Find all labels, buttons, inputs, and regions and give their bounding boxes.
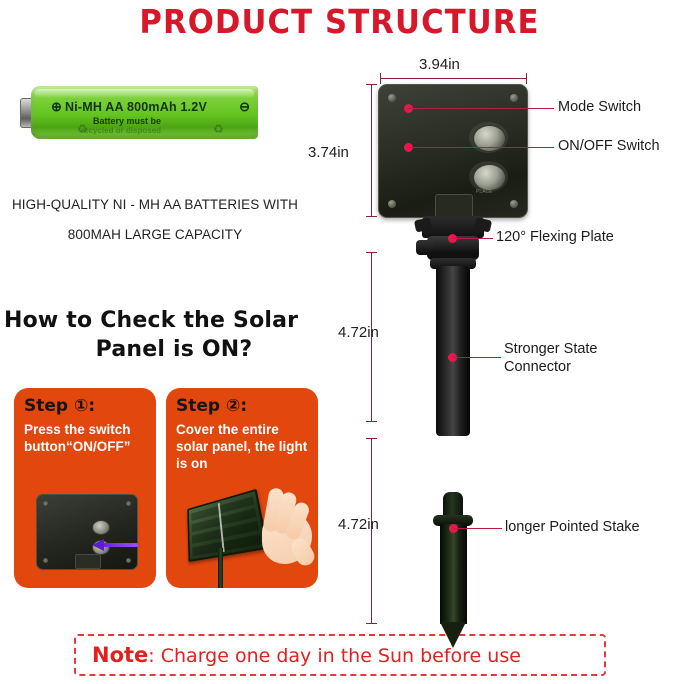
- stake-point: [440, 622, 466, 648]
- dim-label-panel-width: 3.94in: [419, 56, 460, 73]
- dim-tick: [380, 73, 381, 84]
- note-body: : Charge one day in the Sun before use: [148, 645, 521, 667]
- pointer-arrow-icon: [92, 541, 138, 549]
- infographic-root: PRODUCT STRUCTURE ⊕ Ni-MH AA 800mAh 1.2V…: [0, 0, 679, 684]
- battery-caption-line2: 800MAH LARGE CAPACITY: [0, 220, 310, 250]
- screw-icon: [126, 501, 131, 506]
- howto-heading-line2: Panel is ON?: [4, 335, 334, 364]
- screw-icon: [510, 94, 518, 102]
- dim-tick: [366, 438, 377, 439]
- callout-label-flexing-plate: 120° Flexing Plate: [496, 229, 614, 246]
- step-card-2[interactable]: Step ②: Cover the entire solar panel, th…: [166, 388, 318, 588]
- no-trash-icon: ♻: [213, 122, 224, 136]
- dim-line-panel-width: [380, 78, 526, 79]
- arrow-head: [92, 539, 104, 551]
- solar-panel-pole: [218, 548, 223, 588]
- adjust-knob[interactable]: [416, 240, 433, 255]
- bracket-wing-right: [474, 217, 492, 232]
- callout-line-mode-switch: [409, 108, 554, 109]
- dim-tick: [366, 623, 377, 624]
- stake-body: [440, 524, 467, 624]
- screw-icon: [43, 558, 48, 563]
- note-prefix: Note: [92, 643, 148, 667]
- howto-heading-line1: How to Check the Solar: [4, 308, 298, 333]
- callout-label-onoff-switch: ON/OFF Switch: [558, 138, 660, 155]
- pole-tube: [436, 266, 470, 436]
- panel-mount-tab: [435, 194, 473, 218]
- screw-icon: [510, 200, 518, 208]
- dim-line-panel-height: [371, 84, 372, 217]
- recycle-icon: ♻: [77, 122, 88, 136]
- screw-icon: [126, 558, 131, 563]
- dim-tick: [526, 73, 527, 84]
- page-title: PRODUCT STRUCTURE: [24, 2, 655, 41]
- callout-line-flexing-plate: [453, 238, 493, 239]
- panel-back-graphic: [36, 494, 138, 570]
- callout-label-state-connector: Stronger State Connector: [504, 340, 598, 376]
- dim-label-stake-length: 4.72in: [338, 516, 379, 533]
- dim-tick: [366, 84, 377, 85]
- step-1-body: Press the switch button“ON/OFF”: [24, 421, 150, 455]
- callout-line-onoff-switch: [409, 147, 554, 148]
- callout-line-pointed-stake: [454, 528, 502, 529]
- battery-recycle-line2: recycled or disposed: [81, 126, 161, 135]
- battery-minus-icon: ⊖: [239, 99, 250, 115]
- dim-tick: [366, 421, 377, 422]
- step-2-body: Cover the entire solar panel, the light …: [176, 421, 312, 472]
- product-diagram: 3.94in 3.74in 4.72in 4.72in PLACE: [300, 56, 679, 636]
- battery-spec-label: Ni-MH AA 800mAh 1.2V: [65, 100, 252, 114]
- battery-plus-icon: ⊕: [51, 99, 62, 115]
- screw-icon: [388, 94, 396, 102]
- battery-caption-line1: HIGH-QUALITY NI - MH AA BATTERIES WITH: [12, 197, 298, 212]
- callout-label-mode-switch: Mode Switch: [558, 99, 641, 116]
- screw-icon: [388, 200, 396, 208]
- battery-caption: HIGH-QUALITY NI - MH AA BATTERIES WITH 8…: [0, 190, 310, 250]
- callout-label-pointed-stake: longer Pointed Stake: [505, 519, 640, 536]
- step-1-title: Step ①:: [24, 396, 95, 416]
- hand-covering-solar-panel-photo: [174, 486, 314, 586]
- dim-label-panel-height: 3.74in: [308, 144, 349, 161]
- panel-print-label: PLACE: [476, 189, 492, 195]
- solar-panel-back-photo: [36, 494, 136, 574]
- howto-heading: How to Check the Solar Panel is ON?: [4, 306, 334, 364]
- dim-tick: [366, 252, 377, 253]
- state-connector-line2: Connector: [504, 359, 571, 375]
- note-box: Note: Charge one day in the Sun before u…: [74, 634, 606, 676]
- step-card-1[interactable]: Step ①: Press the switch button“ON/OFF”: [14, 388, 156, 588]
- battery-highlight: [35, 89, 254, 98]
- bracket-wing-left: [414, 217, 432, 232]
- screw-icon: [43, 501, 48, 506]
- step-2-title: Step ②:: [176, 396, 247, 416]
- onoff-switch-button[interactable]: [473, 164, 506, 191]
- dim-tick: [366, 216, 377, 217]
- arrow-shaft: [102, 543, 138, 547]
- dim-label-pole-length: 4.72in: [338, 324, 379, 341]
- mode-switch-button[interactable]: [92, 520, 110, 535]
- solar-panel-back: PLACE: [378, 84, 528, 218]
- callout-line-state-connector: [453, 357, 501, 358]
- battery-recycle-line1: Battery must be: [93, 116, 161, 126]
- battery-illustration: ⊕ Ni-MH AA 800mAh 1.2V ⊖ Battery must be…: [20, 82, 260, 144]
- state-connector-line1: Stronger State: [504, 341, 598, 357]
- panel-mount-tab: [75, 554, 101, 569]
- battery-body: ⊕ Ni-MH AA 800mAh 1.2V ⊖ Battery must be…: [31, 86, 258, 139]
